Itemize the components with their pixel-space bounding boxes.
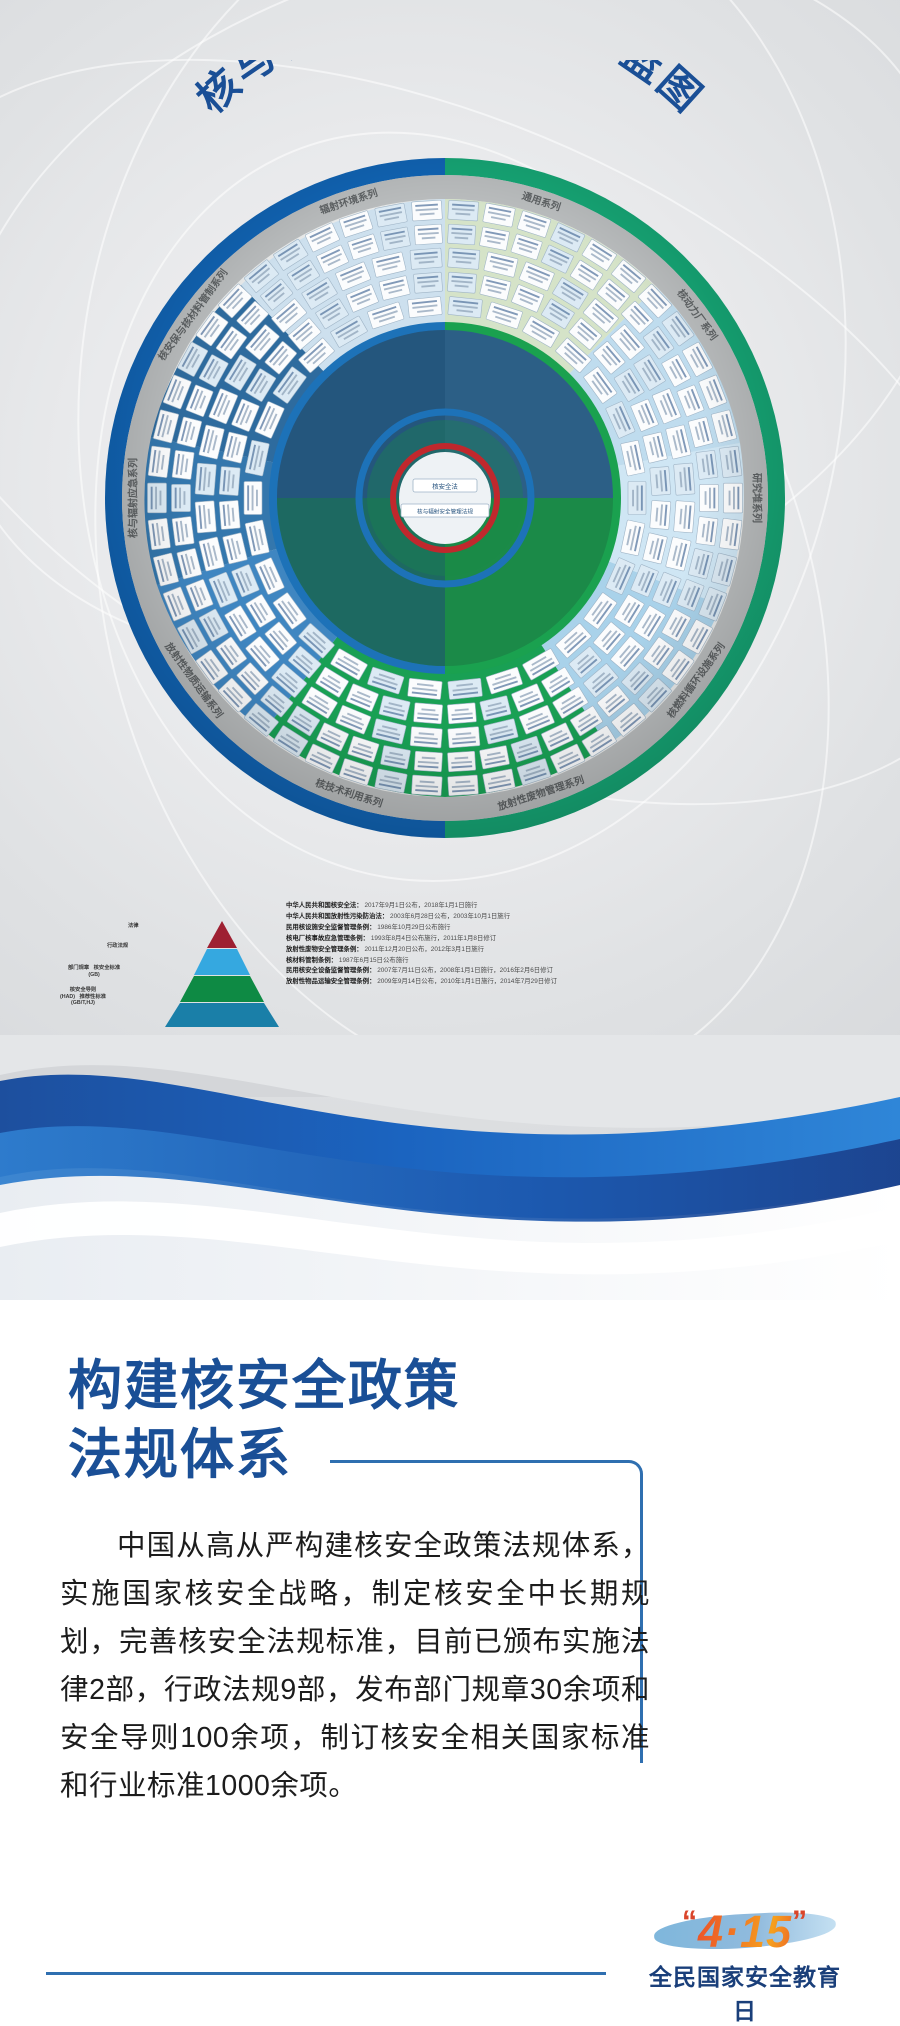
law-entry-dates: 2009年9月14日公布，2010年1月1日施行，2014年7月29日修订 <box>375 978 557 985</box>
logo-quote-close: ” <box>792 1905 808 1938</box>
standards-pyramid <box>155 903 290 1028</box>
pyramid-level-admin <box>194 949 250 975</box>
law-entry-name: 中华人民共和国放射性污染防治法： <box>286 913 388 920</box>
wheel-vignette <box>105 158 785 838</box>
law-entry-dates: 2003年6月28日公布，2003年10月1日施行 <box>388 913 510 920</box>
legend-block: 法律 行政法规 部门规章 核安全标准(GB) 核安全导则(HAD) 推荐性标准(… <box>60 875 850 1055</box>
pyramid-label-admin: 行政法规 <box>107 943 128 950</box>
law-entry-name: 中华人民共和国核安全法： <box>286 902 363 909</box>
pyramid-label-guide-recommended: 核安全导则(HAD) 推荐性标准(GB/T,HJ) <box>60 987 106 1007</box>
logo-subtitle: 全民国家安全教育日 <box>640 1958 850 2026</box>
law-entry-dates: 2011年12月20日公布，2012年3月1日施行 <box>363 946 484 953</box>
bottom-rule <box>46 1972 606 1975</box>
pyramid-label-law: 法律 <box>128 923 139 930</box>
logo-date: “4·15” <box>682 1898 808 1956</box>
law-entry-name: 民用核设施安全监督管理条例： <box>286 924 375 931</box>
pyramid-level-guide <box>165 1003 279 1027</box>
pyramid-label-dept-standard: 部门规章 核安全标准(GB) <box>68 965 120 978</box>
logo-date-text: 4·15 <box>698 1906 792 1957</box>
pyramid-level-dept <box>180 976 264 1002</box>
law-entry-dates: 2007年7月11日公布，2008年1月1日施行，2016年2月6日修订 <box>375 967 552 974</box>
pyramid-level-law <box>207 921 237 948</box>
logo-quote-open: “ <box>682 1905 698 1938</box>
pyramid-label-dept: 部门规章 <box>68 965 89 971</box>
law-entry: 中华人民共和国核安全法： 2017年9月1日公布，2018年1月1日施行 <box>286 901 846 912</box>
law-entry-dates: 2017年9月1日公布，2018年1月1日施行 <box>363 902 478 909</box>
pyramid-label-gbt: 推荐性标准(GB/T,HJ) <box>71 994 106 1007</box>
regulation-wheel: 核安全法 核与辐射安全管理法规 通用系列核动力厂系列研究堆系列核燃料循环设施系列… <box>95 148 795 848</box>
law-entry-name: 放射性物品运输安全管理条例： <box>286 978 375 985</box>
law-entry-name: 核电厂核事故应急管理条例： <box>286 935 369 942</box>
law-entry-dates: 1993年8月4日公布施行，2011年1月8日修订 <box>369 935 496 942</box>
law-entry: 核电厂核事故应急管理条例： 1993年8月4日公布施行，2011年1月8日修订 <box>286 934 846 945</box>
body-paragraph: 中国从高从严构建核安全政策法规体系，实施国家核安全战略，制定核安全中长期规划，完… <box>60 1522 650 1810</box>
law-entry: 核材料管制条例： 1987年6月15日公布施行 <box>286 956 846 967</box>
arc-title-text: 核与辐射安全法规标准蓝图 <box>188 60 712 122</box>
national-security-day-logo: “4·15” 全民国家安全教育日 <box>640 1898 850 2002</box>
law-list: 中华人民共和国核安全法： 2017年9月1日公布，2018年1月1日施行中华人民… <box>286 901 846 988</box>
poster-top-panel: 核与辐射安全法规标准蓝图 <box>0 0 900 1200</box>
law-entry: 民用核设施安全监督管理条例： 1986年10月29日公布施行 <box>286 923 846 934</box>
law-entry: 放射性废物安全管理条例： 2011年12月20日公布，2012年3月1日施行 <box>286 945 846 956</box>
law-entry: 放射性物品运输安全管理条例： 2009年9月14日公布，2010年1月1日施行，… <box>286 977 846 988</box>
law-entry-dates: 1986年10月29日公布施行 <box>375 924 450 931</box>
pyramid-label-gb: 核安全标准(GB) <box>88 965 120 978</box>
law-entry-name: 民用核安全设备监督管理条例： <box>286 967 375 974</box>
law-entry-name: 核材料管制条例： <box>286 957 337 964</box>
law-entry-name: 放射性废物安全管理条例： <box>286 946 363 953</box>
law-entry-dates: 1987年6月15日公布施行 <box>337 957 408 964</box>
headline-line-1: 构建核安全政策 <box>68 1356 460 1416</box>
law-entry: 中华人民共和国放射性污染防治法： 2003年6月28日公布，2003年10月1日… <box>286 912 846 923</box>
law-entry: 民用核安全设备监督管理条例： 2007年7月11日公布，2008年1月1日施行，… <box>286 966 846 977</box>
blue-wave-decoration <box>0 1035 900 1335</box>
